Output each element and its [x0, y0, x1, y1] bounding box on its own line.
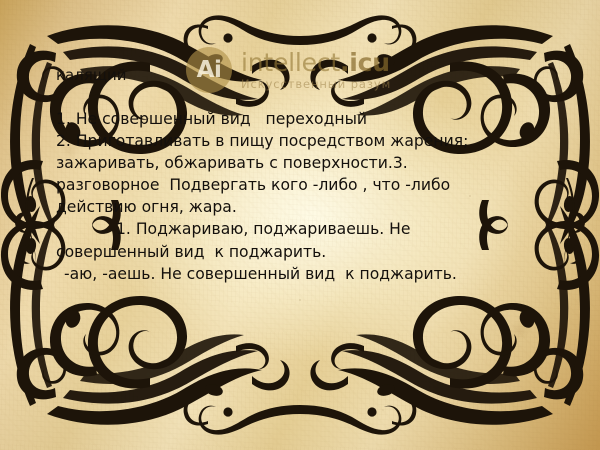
watermark: Ai intellect.icu Искусственный разум — [186, 47, 391, 93]
border-flourish-bottom — [184, 399, 417, 435]
definition-line: разговорное Подвергать кого -либо , что … — [56, 174, 556, 196]
watermark-tagline: Искусственный разум — [241, 78, 391, 90]
definition-line: совершенный вид к поджарить. — [56, 241, 556, 263]
entry-headword: калящий — [56, 68, 127, 83]
watermark-brand: intellect.icu — [241, 50, 391, 77]
definition-line: 2. Приготавливать в пищу посредством жар… — [56, 130, 556, 152]
border-flourish-top — [184, 15, 417, 51]
entry-definition-body: 1. Не совершенный вид переходный2. Приго… — [56, 108, 556, 285]
definition-line: зажаривать, обжаривать с поверхности.3. — [56, 152, 556, 174]
watermark-brand-name: intellect — [241, 48, 340, 77]
definition-line: 1. Не совершенный вид переходный — [56, 108, 556, 130]
definition-line: действию огня, жара. — [56, 196, 556, 218]
watermark-wordmark: intellect.icu Искусственный разум — [241, 50, 391, 91]
watermark-badge-text: Ai — [197, 59, 222, 82]
watermark-logo-badge: Ai — [186, 47, 232, 93]
definition-line: 1. Поджариваю, поджариваешь. Не — [56, 218, 556, 240]
watermark-brand-tld: .icu — [340, 48, 390, 77]
border-flourish-right — [564, 178, 585, 284]
definition-line: -аю, -аешь. Не совершенный вид к поджари… — [56, 263, 556, 285]
parchment-page: Ai intellect.icu Искусственный разум кал… — [0, 0, 600, 450]
border-flourish-left — [15, 178, 36, 284]
